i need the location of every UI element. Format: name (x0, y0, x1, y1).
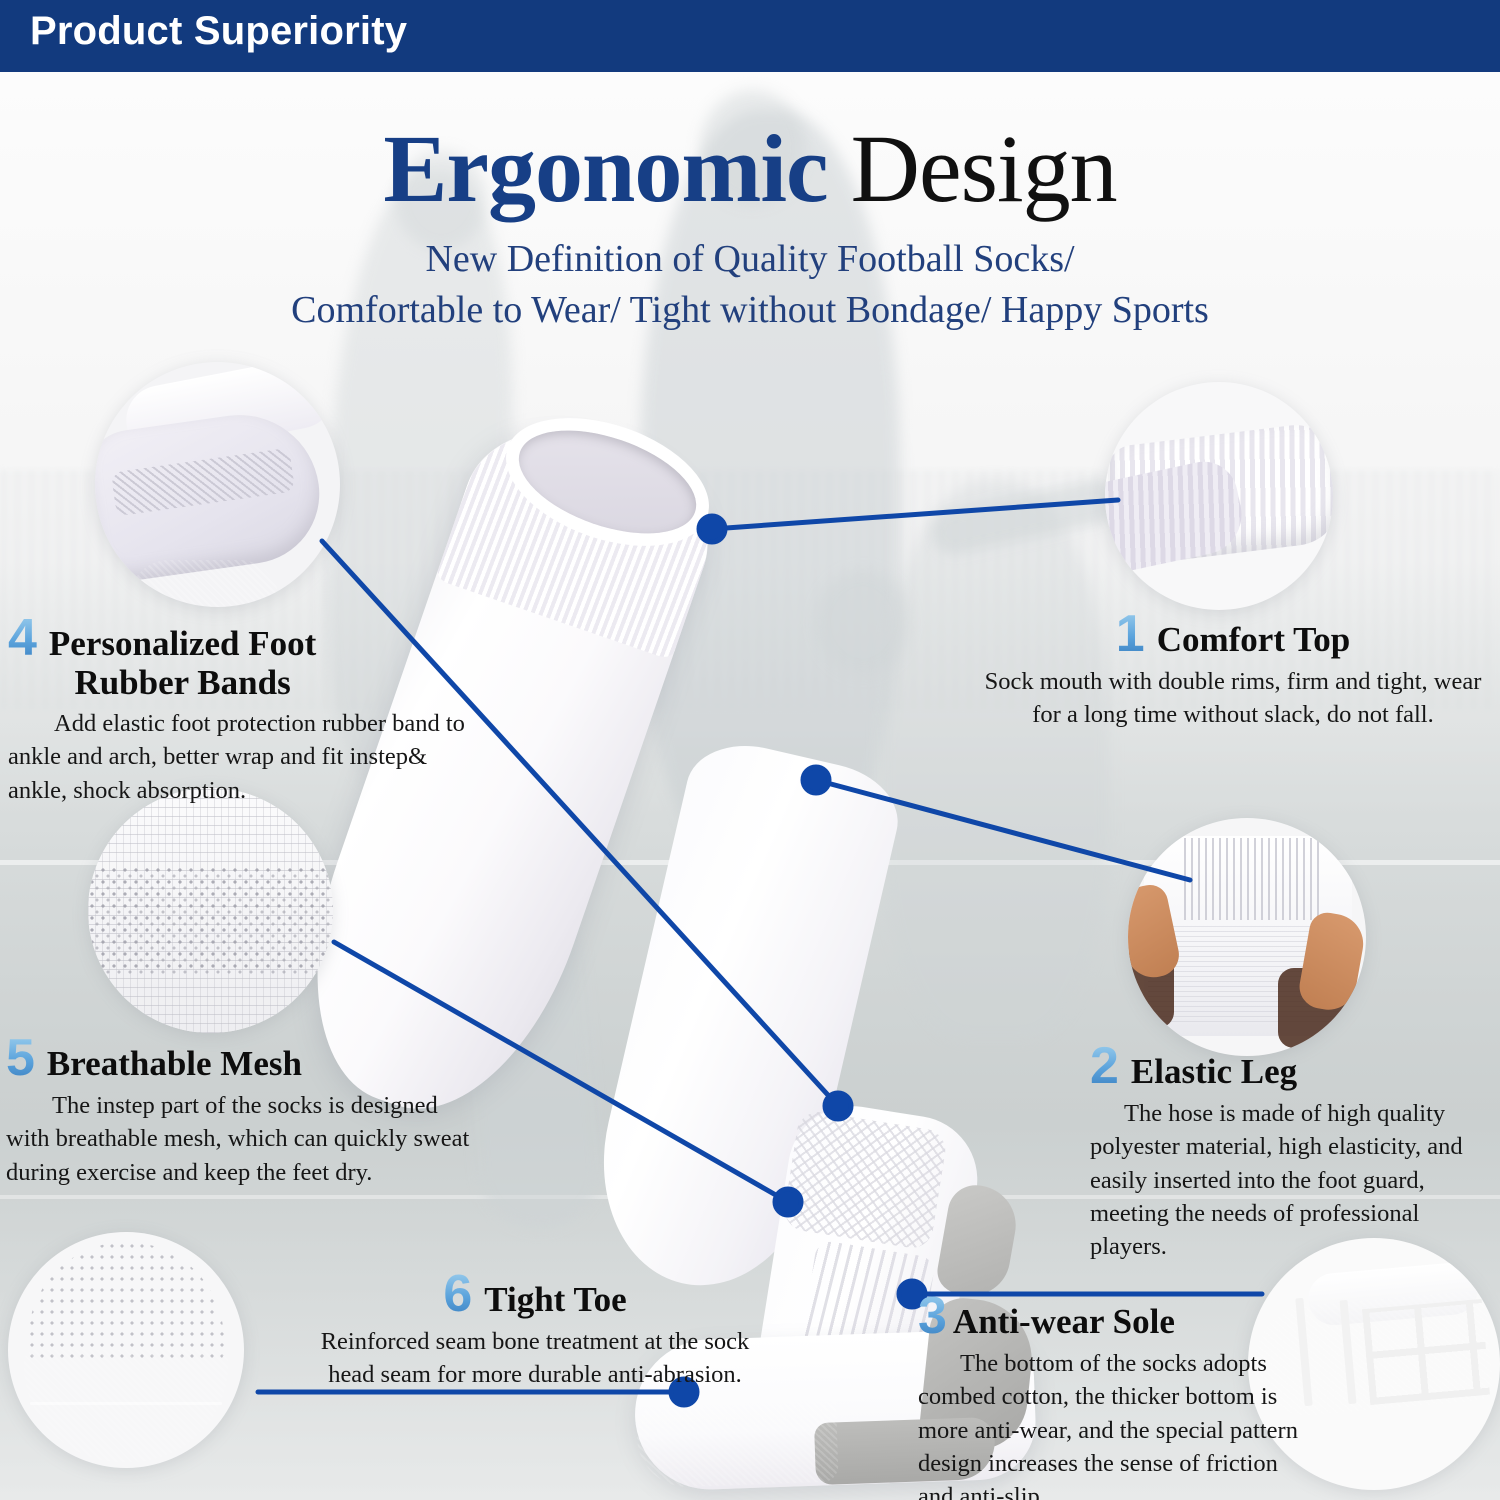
feature-5-title: Breathable Mesh (47, 1045, 302, 1084)
feature-4-title-line1: Personalized Foot (49, 624, 316, 663)
feature-block-breathable-mesh: 5 Breathable Mesh The instep part of the… (6, 1032, 486, 1189)
elastic-photo-ribs (1184, 838, 1324, 920)
detail-photo-elastic-leg (1128, 818, 1366, 1056)
detail-photo-comfort-top (1105, 382, 1333, 610)
hero-block: Ergonomic Design New Definition of Quali… (0, 118, 1500, 336)
feature-5-body: The instep part of the socks is designed… (6, 1089, 486, 1189)
feature-block-comfort-top: 1 Comfort Top Sock mouth with double rim… (978, 608, 1488, 732)
feature-3-number: 3 (918, 1290, 947, 1342)
feature-2-title: Elastic Leg (1131, 1053, 1297, 1092)
feature-4-title-line2: Rubber Bands (49, 664, 316, 703)
sock-toe (635, 1382, 838, 1489)
page-title: Product Superiority (30, 9, 407, 54)
feature-1-body: Sock mouth with double rims, firm and ti… (978, 665, 1488, 732)
feature-2-number: 2 (1090, 1040, 1119, 1092)
detail-photo-tight-toe (8, 1232, 244, 1468)
feature-4-number: 4 (8, 612, 37, 664)
feature-block-elastic-leg: 2 Elastic Leg The hose is made of high q… (1090, 1040, 1494, 1264)
feature-2-heading: 2 Elastic Leg (1090, 1040, 1494, 1092)
detail-photo-rubber-bands (95, 362, 340, 607)
detail-photo-breathable-mesh (88, 788, 333, 1033)
feature-1-heading: 1 Comfort Top (978, 608, 1488, 660)
feature-1-title: Comfort Top (1157, 621, 1351, 660)
toe-photo-seam (30, 1402, 222, 1405)
feature-6-number: 6 (443, 1268, 472, 1320)
feature-6-body: Reinforced seam bone treatment at the so… (300, 1325, 770, 1392)
hero-title-blue: Ergonomic (383, 115, 827, 222)
rubber-photo-grey-sole (129, 560, 279, 607)
feature-5-number: 5 (6, 1032, 35, 1084)
feature-1-number: 1 (1116, 608, 1145, 660)
feature-6-heading: 6 Tight Toe (300, 1268, 770, 1320)
feature-2-body: The hose is made of high quality polyest… (1090, 1097, 1494, 1264)
feature-6-title: Tight Toe (484, 1281, 626, 1320)
feature-3-heading: 3 Anti-wear Sole (918, 1290, 1298, 1342)
toe-photo-upper (28, 1242, 224, 1362)
feature-5-heading: 5 Breathable Mesh (6, 1032, 486, 1084)
feature-block-tight-toe: 6 Tight Toe Reinforced seam bone treatme… (300, 1268, 770, 1392)
hero-subtitle: New Definition of Quality Football Socks… (0, 234, 1500, 337)
infographic-canvas: Product Superiority Ergonomic Design New… (0, 0, 1500, 1500)
feature-4-body: Add elastic foot protection rubber band … (8, 707, 478, 807)
hero-subtitle-line2: Comfortable to Wear/ Tight without Bonda… (0, 285, 1500, 336)
feature-4-heading: 4 Personalized Foot Rubber Bands (8, 612, 478, 702)
feature-3-body: The bottom of the socks adopts combed co… (918, 1347, 1298, 1500)
hero-title-black: Design (851, 115, 1117, 222)
feature-block-anti-wear-sole: 3 Anti-wear Sole The bottom of the socks… (918, 1290, 1298, 1500)
feature-3-title: Anti-wear Sole (953, 1303, 1175, 1342)
feature-block-personalized-foot-rubber-bands: 4 Personalized Foot Rubber Bands Add ela… (8, 612, 478, 807)
sole-photo-grid-pattern (1362, 1299, 1490, 1405)
mesh-photo-holes (88, 866, 333, 976)
hero-subtitle-line1: New Definition of Quality Football Socks… (0, 234, 1500, 285)
feature-4-title: Personalized Foot Rubber Bands (49, 625, 316, 702)
sock-mesh-panel (782, 1109, 949, 1251)
hero-title: Ergonomic Design (0, 118, 1500, 220)
